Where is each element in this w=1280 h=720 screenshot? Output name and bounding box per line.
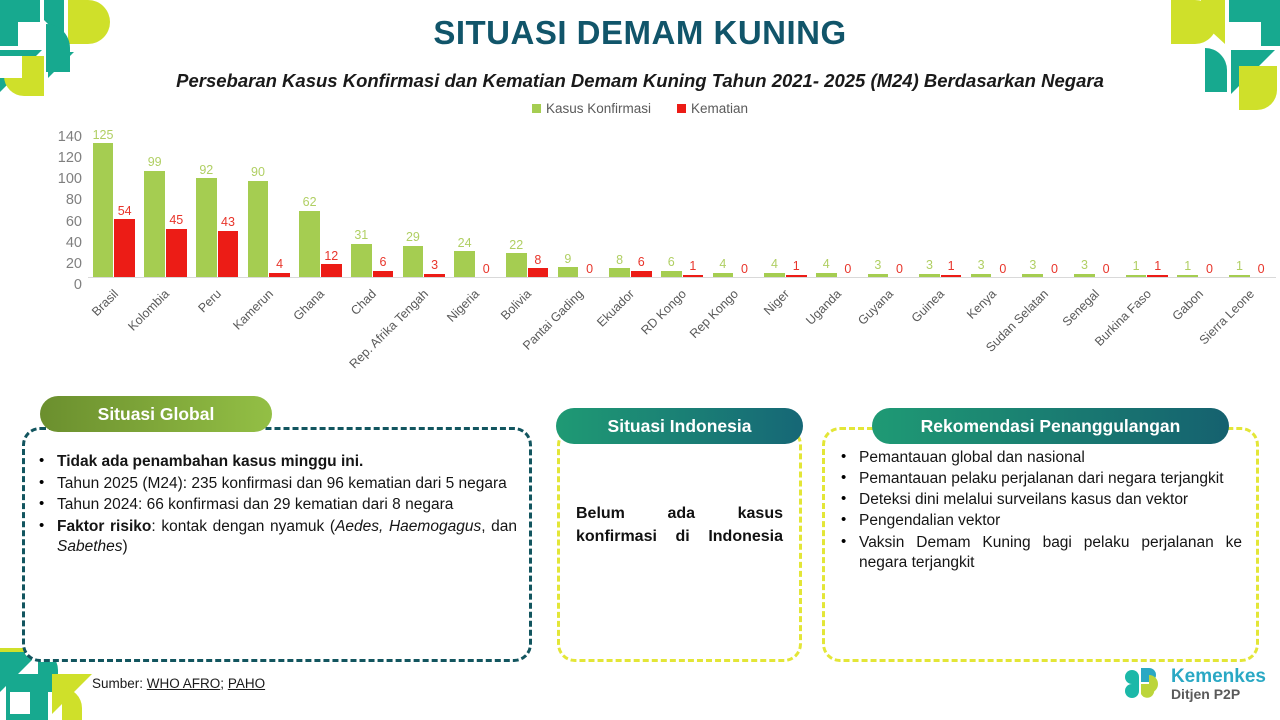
bar-value-label: 29 [406, 231, 420, 244]
bar-value-label: 12 [324, 250, 338, 263]
y-axis-tick: 80 [36, 193, 82, 208]
x-axis-label-cell: Kolombia [140, 280, 192, 380]
bar-value-label: 125 [93, 129, 114, 142]
bar-cases: 1 [1229, 275, 1250, 278]
bar-value-label: 3 [874, 259, 881, 272]
kemenkes-flower-icon [1118, 662, 1164, 706]
x-axis-label-cell: Rep. Afrika Tengah [398, 280, 450, 380]
bar-cases: 1 [1177, 275, 1198, 278]
bar-group: 293 [398, 128, 450, 277]
bar-cases: 9 [558, 267, 579, 277]
list-item: Tahun 2024: 66 konfirmasi dan 29 kematia… [31, 495, 517, 516]
bar-value-label: 4 [823, 258, 830, 271]
y-axis-tick: 20 [36, 257, 82, 272]
bar-value-label: 45 [169, 214, 183, 227]
bar-value-label: 6 [379, 256, 386, 269]
bar-value-label: 3 [978, 259, 985, 272]
list-item: Pemantauan global dan nasional [833, 448, 1242, 468]
x-axis-label-cell: Sierra Leone [1224, 280, 1276, 380]
panel-situasi-global: Tidak ada penambahan kasus minggu ini. T… [22, 427, 532, 662]
bar-group: 10 [1224, 128, 1276, 277]
source-note: Sumber: WHO AFRO; PAHO [92, 676, 265, 691]
bar-cases: 4 [713, 273, 734, 277]
bar-value-label: 54 [118, 205, 132, 218]
y-axis-tick: 120 [36, 151, 82, 166]
list-item: Pengendalian vektor [833, 511, 1242, 531]
link-paho[interactable]: PAHO [228, 676, 265, 691]
bar-cases: 3 [1074, 274, 1095, 277]
bar-cases: 125 [93, 143, 114, 277]
x-axis-label-cell: Guyana [863, 280, 915, 380]
x-axis-label-cell: Guinea [915, 280, 967, 380]
panel-header-rekomendasi: Rekomendasi Penanggulangan [872, 408, 1229, 444]
source-separator: ; [220, 676, 224, 691]
bar-group: 30 [1018, 128, 1070, 277]
bar-group: 9945 [140, 128, 192, 277]
bar-cases: 22 [506, 253, 527, 277]
bar-cases: 4 [816, 273, 837, 277]
plot-area: 1255499459243904621231629324022890866140… [88, 128, 1276, 278]
list-item: Tahun 2025 (M24): 235 konfirmasi dan 96 … [31, 474, 517, 495]
x-axis-label-cell: Rep Kongo [708, 280, 760, 380]
chart-subtitle: Persebaran Kasus Konfirmasi dan Kematian… [90, 70, 1190, 92]
bar-cases: 90 [248, 181, 269, 277]
legend-label-cases: Kasus Konfirmasi [546, 101, 651, 116]
bar-value-label: 6 [638, 256, 645, 269]
page-title: SITUASI DEMAM KUNING [0, 14, 1280, 52]
bar-value-label: 9 [564, 253, 571, 266]
bar-group: 40 [811, 128, 863, 277]
bar-value-label: 43 [221, 216, 235, 229]
legend-item-cases: Kasus Konfirmasi [532, 101, 651, 116]
bar-cases: 3 [971, 274, 992, 277]
legend-item-deaths: Kematian [677, 101, 748, 116]
link-who-afro[interactable]: WHO AFRO [147, 676, 221, 691]
logo-text: Kemenkes Ditjen P2P [1171, 667, 1266, 702]
bar-group: 30 [966, 128, 1018, 277]
bar-chart: 140120100806040200 125549945924390462123… [0, 128, 1280, 378]
bar-cases: 3 [919, 274, 940, 277]
bar-value-label: 31 [354, 229, 368, 242]
x-axis-labels: BrasilKolombiaPeruKamerunGhanaChadRep. A… [88, 280, 1276, 380]
global-list: Tidak ada penambahan kasus minggu ini. T… [31, 452, 517, 558]
bar-value-label: 8 [534, 254, 541, 267]
x-axis-label-cell: Uganda [811, 280, 863, 380]
list-item: Faktor risiko: kontak dengan nyamuk (Aed… [31, 517, 517, 558]
y-axis-tick: 100 [36, 172, 82, 187]
panel-header-situasi-global: Situasi Global [40, 396, 272, 432]
x-axis-label-cell: Pantai Gading [553, 280, 605, 380]
bar-group: 316 [346, 128, 398, 277]
source-prefix: Sumber: [92, 676, 143, 691]
bar-value-label: 62 [303, 196, 317, 209]
y-axis: 140120100806040200 [36, 128, 82, 280]
bar-value-label: 4 [276, 258, 283, 271]
bar-group: 12554 [88, 128, 140, 277]
indonesia-body: Belum ada kasus konfirmasi di Indonesia [576, 502, 783, 572]
bar-group: 30 [863, 128, 915, 277]
legend-label-deaths: Kematian [691, 101, 748, 116]
bar-cases: 3 [1022, 274, 1043, 277]
panel-situasi-indonesia: Belum ada kasus konfirmasi di Indonesia [557, 427, 802, 662]
bar-cases: 4 [764, 273, 785, 277]
y-axis-tick: 40 [36, 236, 82, 251]
bar-group: 11 [1121, 128, 1173, 277]
bar-value-label: 3 [1029, 259, 1036, 272]
rekomendasi-list: Pemantauan global dan nasional Pemantaua… [833, 448, 1242, 573]
legend-swatch-cases [532, 104, 541, 113]
y-axis-tick: 0 [36, 278, 82, 293]
bar-group: 904 [243, 128, 295, 277]
legend-swatch-deaths [677, 104, 686, 113]
bar-group: 31 [915, 128, 967, 277]
list-item: Pemantauan pelaku perjalanan dari negara… [833, 469, 1242, 489]
y-axis-tick: 140 [36, 130, 82, 145]
bar-value-label: 99 [148, 156, 162, 169]
logo-line-2: Ditjen P2P [1171, 687, 1266, 702]
list-item: Vaksin Demam Kuning bagi pelaku perjalan… [833, 533, 1242, 573]
bar-cases: 6 [661, 271, 682, 277]
bar-value-label: 22 [509, 239, 523, 252]
y-axis-tick: 60 [36, 215, 82, 230]
logo-line-1: Kemenkes [1171, 667, 1266, 687]
bar-value-label: 1 [1133, 260, 1140, 273]
chart-legend: Kasus Konfirmasi Kematian [0, 101, 1280, 116]
x-axis-label-cell: Peru [191, 280, 243, 380]
bar-group: 228 [501, 128, 553, 277]
bar-value-label: 92 [199, 164, 213, 177]
bar-value-label: 1 [1236, 260, 1243, 273]
bar-groups: 1255499459243904621231629324022890866140… [88, 128, 1276, 277]
kemenkes-logo: Kemenkes Ditjen P2P [1118, 662, 1266, 706]
bar-value-label: 90 [251, 166, 265, 179]
bar-cases: 1 [1126, 275, 1147, 278]
x-axis-label-cell: Kamerun [243, 280, 295, 380]
x-axis-label-cell: Niger [760, 280, 812, 380]
bar-cases: 3 [868, 274, 889, 277]
bar-group: 90 [553, 128, 605, 277]
bar-cases: 31 [351, 244, 372, 277]
list-item: Deteksi dini melalui surveilans kasus da… [833, 490, 1242, 510]
x-axis-label-cell: Ghana [295, 280, 347, 380]
x-axis-label-cell: Burkina Faso [1121, 280, 1173, 380]
panel-rekomendasi-penanggulangan: Pemantauan global dan nasional Pemantaua… [822, 427, 1259, 662]
x-axis-label-cell: Sudan Selatan [1018, 280, 1070, 380]
bar-cases: 29 [403, 246, 424, 277]
x-axis-label-cell: Nigeria [450, 280, 502, 380]
bar-group: 61 [656, 128, 708, 277]
bar-cases: 99 [144, 171, 165, 277]
list-item: Tidak ada penambahan kasus minggu ini. [31, 452, 517, 473]
panel-header-situasi-indonesia: Situasi Indonesia [556, 408, 803, 444]
